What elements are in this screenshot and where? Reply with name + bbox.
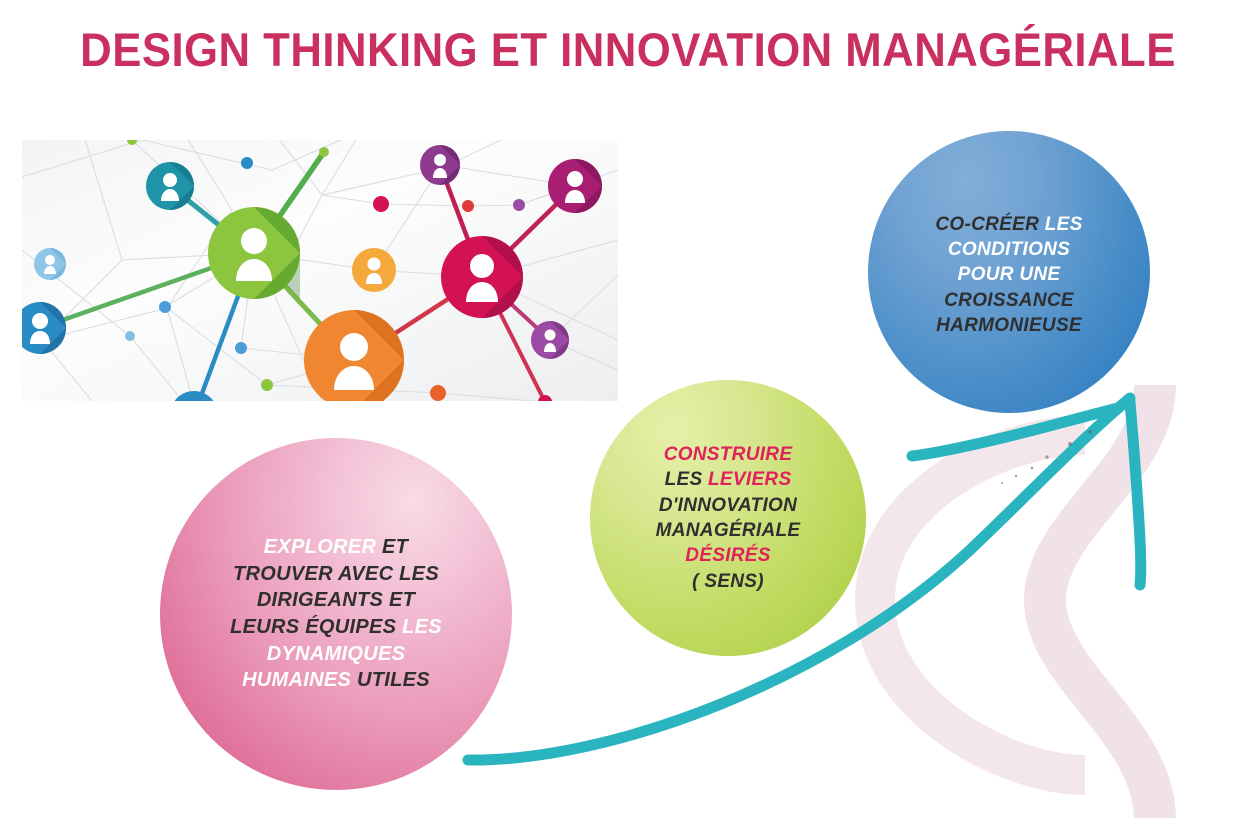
bubble-line: CROISSANCE	[935, 288, 1082, 313]
bubble-line: CO-CRÉER LES	[935, 212, 1082, 237]
co-creer-bubble-text: CO-CRÉER LES CONDITIONS POUR UNE CROISSA…	[925, 212, 1092, 338]
bubble-line: MANAGÉRIALE	[656, 518, 801, 543]
bubble-line: ( SENS)	[656, 569, 801, 594]
page-title: DESIGN THINKING ET INNOVATION MANAGÉRIAL…	[44, 22, 1212, 77]
bubble-line: CONDITIONS	[935, 237, 1082, 262]
bubble-line: HUMAINES UTILES	[230, 667, 442, 694]
people-network-photo	[22, 140, 618, 401]
bubble-line: DÉSIRÉS	[656, 543, 801, 568]
bubble-line: EXPLORER ET	[230, 534, 442, 561]
bubble-line: LEURS ÉQUIPES LES	[230, 614, 442, 641]
construire-bubble-text: CONSTRUIRE LES LEVIERS D'INNOVATION MANA…	[646, 442, 811, 594]
explorer-bubble-text: EXPLORER ET TROUVER AVEC LES DIRIGEANTS …	[220, 534, 452, 694]
bubble-line: DIRIGEANTS ET	[230, 587, 442, 614]
co-creer-bubble[interactable]: CO-CRÉER LES CONDITIONS POUR UNE CROISSA…	[868, 131, 1150, 413]
bubble-line: TROUVER AVEC LES	[230, 561, 442, 588]
network-graphic	[22, 140, 618, 401]
bubble-line: D'INNOVATION	[656, 493, 801, 518]
bubble-line: HARMONIEUSE	[935, 313, 1082, 338]
construire-bubble[interactable]: CONSTRUIRE LES LEVIERS D'INNOVATION MANA…	[590, 380, 866, 656]
bubble-line: CONSTRUIRE	[656, 442, 801, 467]
poster-canvas: DESIGN THINKING ET INNOVATION MANAGÉRIAL…	[0, 0, 1256, 818]
bubble-line: POUR UNE	[935, 262, 1082, 287]
bubble-line: DYNAMIQUES	[230, 641, 442, 668]
bubble-line: LES LEVIERS	[656, 467, 801, 492]
watermark-decoration	[855, 375, 1256, 818]
explorer-bubble[interactable]: EXPLORER ET TROUVER AVEC LES DIRIGEANTS …	[160, 438, 512, 790]
